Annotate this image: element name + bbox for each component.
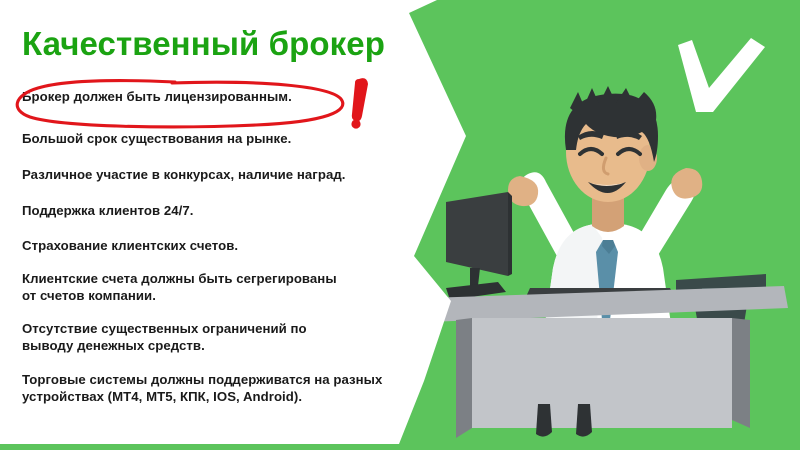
content-column: Качественный брокер Брокер должен быть л… xyxy=(0,0,520,450)
list-item-1: Большой срок существования на рынке. xyxy=(22,130,291,147)
list-item-7: Торговые системы должны поддерживатся на… xyxy=(22,371,382,405)
right-leg xyxy=(576,404,592,437)
list-item-0: Брокер должен быть лицензированным. xyxy=(22,88,292,105)
list-item-2: Различное участие в конкурсах, наличие н… xyxy=(22,166,345,183)
slide-canvas: Качественный брокер Брокер должен быть л… xyxy=(0,0,800,450)
list-item-5: Клиентские счета должны быть сегрегирова… xyxy=(22,270,337,304)
list-item-3: Поддержка клиентов 24/7. xyxy=(22,202,193,219)
list-item-4: Страхование клиентских счетов. xyxy=(22,237,238,254)
list-item-6: Отсутствие существенных ограничений по в… xyxy=(22,320,307,354)
left-leg xyxy=(536,404,552,437)
page-title: Качественный брокер xyxy=(22,24,385,64)
